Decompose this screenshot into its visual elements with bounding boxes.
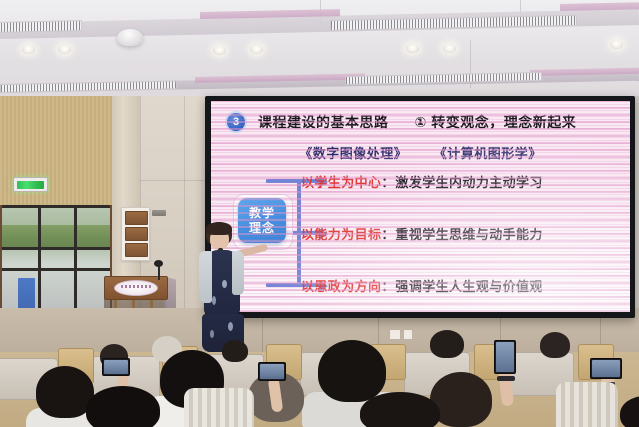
bullet-value-1: 激发学生内动力主动学习	[395, 172, 542, 191]
door-mullion	[2, 268, 110, 271]
wall-plaque	[125, 243, 148, 257]
wall-sensor	[152, 210, 166, 216]
course-title-2: 《计算机图形学》	[434, 143, 542, 162]
audience-phone	[494, 340, 516, 374]
ceiling-downlight	[406, 44, 419, 53]
bullet-colon-1: ：	[381, 172, 394, 191]
bullet-row-2: 以能力为目标 ： 重视学生思维与动手能力	[301, 224, 543, 242]
presenter	[192, 222, 264, 352]
projection-screen: 3 课程建设的基本思路 ① 转变观念，理念新起来 《数字图像处理》 《计算机图形…	[211, 101, 630, 312]
audience-hair	[540, 332, 570, 358]
dress-pattern	[210, 330, 214, 338]
dress-pattern	[228, 322, 233, 331]
bullet-value-2: 重视学生思维与动手能力	[395, 224, 542, 243]
bullet-value-3: 强调学生人生观与价值观	[395, 276, 542, 295]
concept-line-1: 教学	[249, 206, 275, 220]
slide-header: 3 课程建设的基本思路 ① 转变观念，理念新起来	[225, 112, 625, 132]
audience-hair	[86, 386, 160, 427]
slide-section-title: 课程建设的基本思路	[258, 112, 389, 132]
ceiling-downlight	[213, 46, 226, 55]
audience-phone	[590, 358, 622, 379]
slide-content: 3 课程建设的基本思路 ① 转变观念，理念新起来 《数字图像处理》 《计算机图形…	[211, 101, 630, 312]
audience-hair	[318, 340, 386, 402]
audience-hair	[430, 330, 464, 358]
audience-hair	[222, 340, 248, 362]
presenter-cardigan-right	[232, 251, 244, 295]
door-mullion	[2, 205, 110, 208]
ceiling-downlight	[250, 45, 263, 54]
lecture-hall-photo: 3 课程建设的基本思路 ① 转变观念，理念新起来 《数字图像处理》 《计算机图形…	[0, 0, 639, 427]
audience-phone	[258, 362, 286, 381]
wall-seam	[140, 180, 210, 181]
audience-hair	[360, 392, 440, 427]
wall-outlet	[389, 329, 401, 340]
wall-plaque	[125, 211, 148, 225]
ceiling-downlight	[610, 40, 623, 49]
ceiling-downlight	[443, 44, 456, 53]
bullet-colon-2: ：	[381, 224, 394, 243]
dress-pattern	[212, 296, 216, 305]
wall-outlet	[403, 329, 413, 340]
dress-pattern	[222, 280, 227, 288]
wristband	[497, 376, 515, 381]
course-titles: 《数字图像处理》 《计算机图形学》	[211, 143, 630, 163]
ceiling-speaker	[117, 29, 143, 46]
wall-seam	[184, 96, 185, 308]
ceiling-vent-grille	[0, 20, 82, 33]
bullet-colon-3: ：	[381, 276, 394, 295]
bullet-key-1: 以学生为中心	[301, 172, 381, 191]
audience-plaid-shirt	[556, 382, 618, 427]
wall-plaque	[125, 227, 148, 241]
exit-sign	[13, 177, 48, 192]
wall-plaque-board	[121, 207, 150, 261]
bullet-key-2: 以能力为目标	[301, 224, 381, 243]
ceiling-downlight	[58, 45, 71, 54]
presenter-cardigan-left	[199, 251, 212, 303]
podium-emblem	[114, 280, 158, 296]
bullet-row-3: 以思政为方向 ： 强调学生人生观与价值观	[301, 276, 543, 294]
presenter-hair-top	[206, 222, 232, 235]
slide-point-title: ① 转变观念，理念新起来	[415, 112, 577, 132]
course-title-1: 《数字图像处理》	[299, 143, 407, 162]
ceiling-downlight	[22, 45, 35, 54]
audience-plaid-shirt	[184, 388, 254, 427]
door-mullion	[2, 247, 110, 250]
section-number-badge: 3	[225, 111, 247, 133]
audience-phone	[102, 358, 130, 376]
microphone-head	[154, 260, 163, 267]
outdoor-hedge	[2, 225, 110, 247]
bullet-key-3: 以思政为方向	[301, 276, 381, 295]
bullet-row-1: 以学生为中心 ： 激发学生内动力主动学习	[301, 172, 543, 190]
